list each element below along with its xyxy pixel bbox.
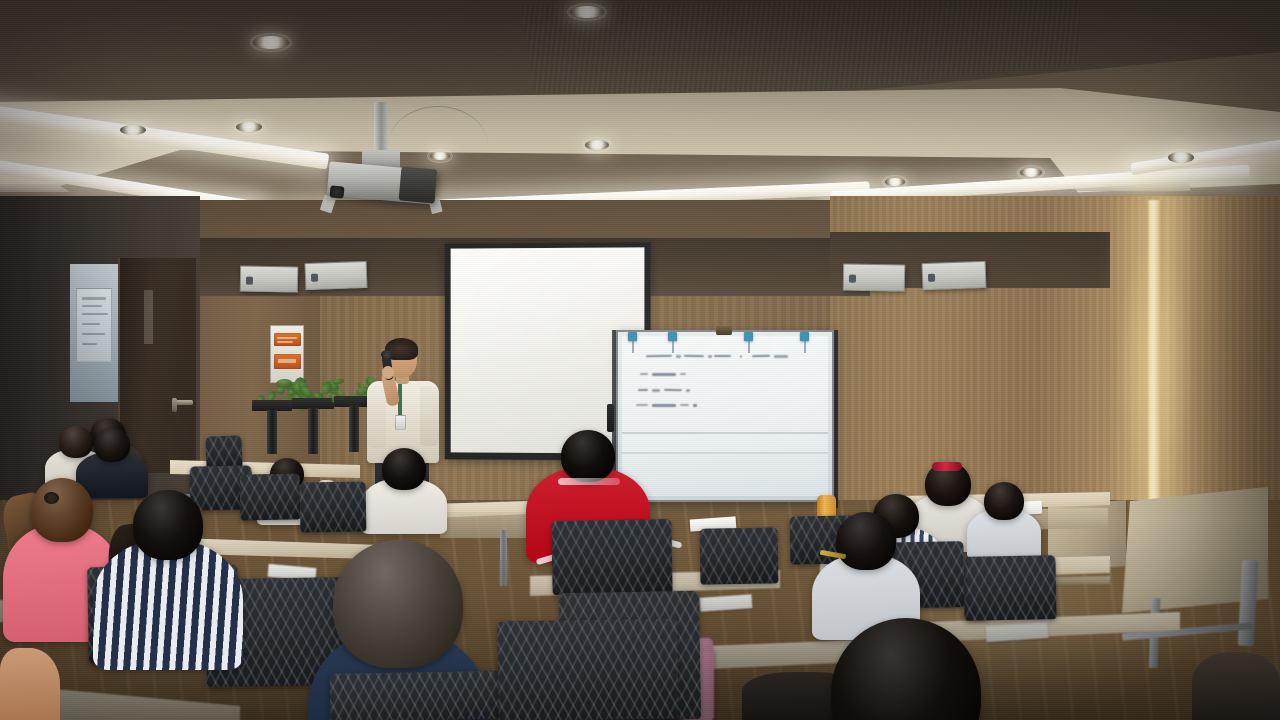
- hair-tie: [44, 492, 59, 504]
- presenter-badge: [395, 415, 406, 430]
- flip-chart-clip[interactable]: [800, 332, 809, 341]
- paper-crease: [622, 452, 828, 454]
- speaker-driver: [246, 277, 253, 285]
- flip-chart-clip[interactable]: [744, 332, 753, 341]
- wall-speaker: [240, 265, 298, 292]
- handwriting-stroke: [680, 404, 689, 406]
- chair-mesh-panel: [551, 519, 672, 595]
- handwriting-stroke: [684, 355, 704, 357]
- handwriting-stroke: [652, 404, 676, 407]
- accent-light-strip: [1146, 200, 1162, 530]
- entry-door[interactable]: [118, 258, 196, 473]
- handwriting-stroke: [774, 355, 788, 358]
- notice-sign: [274, 354, 301, 369]
- flip-chart-clip-stem: [632, 341, 634, 353]
- handwriting-stroke: [686, 389, 690, 392]
- flip-chart-top-clamp: [716, 326, 732, 335]
- presenter-arm-left: [367, 386, 386, 448]
- hair-bow: [932, 462, 962, 471]
- mesh-back-chair[interactable]: [497, 618, 679, 720]
- handwriting-stroke: [652, 373, 676, 376]
- projector-rear: [399, 166, 438, 203]
- flip-chart-paper: [622, 336, 828, 496]
- desk-leg: [500, 530, 507, 586]
- flip-chart-clip-stem: [672, 341, 674, 353]
- downlight: [120, 125, 146, 135]
- handwriting-stroke: [740, 355, 742, 358]
- handwriting-stroke: [664, 389, 682, 391]
- handwriting-stroke: [714, 355, 731, 357]
- attendee-striped-navy-head: [133, 490, 203, 560]
- attendee-foreground-man-head: [333, 540, 463, 668]
- attendee-pink-top-head: [31, 478, 93, 542]
- handwriting-stroke: [676, 355, 681, 358]
- mesh-back-chair[interactable]: [300, 481, 367, 532]
- attendee-child-white-head: [382, 448, 426, 490]
- downlight: [570, 6, 604, 18]
- attendee-arm: [0, 648, 60, 720]
- mesh-back-chair[interactable]: [963, 555, 1056, 621]
- polo-collar: [558, 478, 620, 485]
- downlight: [885, 178, 905, 186]
- door-handle-plate[interactable]: [172, 398, 177, 412]
- attendee-white-blouse-head: [984, 482, 1024, 520]
- wall-speaker: [922, 261, 987, 290]
- notice-sign: [274, 333, 301, 346]
- plant-stand: [267, 410, 277, 454]
- classroom-scene: [0, 0, 1280, 720]
- chair-mesh-panel: [700, 527, 779, 584]
- downlight: [253, 36, 289, 49]
- presenter-arm-right: [420, 386, 439, 446]
- mesh-back-chair[interactable]: [700, 527, 779, 584]
- attendee-white-top-left-head: [59, 426, 93, 458]
- paper-crease: [622, 432, 828, 434]
- flip-chart-clip[interactable]: [668, 332, 677, 341]
- handwriting-stroke: [652, 389, 660, 392]
- projector-mount-pole: [374, 102, 388, 154]
- plant-stand: [349, 406, 359, 452]
- attendee-dark-shirt-head: [94, 428, 130, 462]
- plant-stand: [308, 408, 318, 454]
- handwriting-stroke: [640, 373, 648, 375]
- downlight: [585, 140, 609, 150]
- wall-speaker: [843, 263, 905, 291]
- chair-mesh-panel: [963, 555, 1056, 621]
- wall-notice-board: [270, 325, 304, 383]
- speaker-driver: [849, 275, 856, 283]
- speaker-driver: [311, 274, 318, 282]
- whiteboard-marker[interactable]: [607, 404, 614, 432]
- mesh-back-chair[interactable]: [240, 473, 301, 520]
- mesh-back-chair[interactable]: [551, 519, 672, 595]
- chair-mesh-panel: [497, 618, 679, 720]
- flip-chart-clip-stem: [748, 341, 750, 353]
- chair-mesh-panel: [240, 473, 301, 520]
- attendee-red-polo-head: [561, 430, 615, 482]
- window-notice: [76, 288, 112, 362]
- microphone-head: [381, 350, 393, 359]
- handwriting-stroke: [638, 389, 648, 391]
- flip-chart-clip-stem: [804, 341, 806, 353]
- door-sign: [144, 290, 153, 344]
- downlight: [430, 152, 450, 160]
- handwriting-stroke: [636, 404, 648, 406]
- downlight: [236, 122, 262, 132]
- attendee-silhouette: [1192, 652, 1280, 720]
- attendee-glasses-woman-head: [836, 512, 896, 570]
- handwriting-stroke: [680, 373, 686, 375]
- speaker-driver: [928, 274, 935, 282]
- downlight: [1020, 168, 1042, 177]
- handwriting-stroke: [752, 355, 770, 357]
- wall-speaker: [305, 261, 368, 290]
- downlight: [1168, 152, 1194, 163]
- flip-chart-clip[interactable]: [628, 332, 637, 341]
- presenter-hand: [382, 366, 394, 379]
- handwriting-stroke: [693, 404, 697, 407]
- projector-lens: [330, 185, 345, 198]
- handwriting-stroke: [708, 355, 712, 358]
- door-handle[interactable]: [176, 400, 193, 405]
- chair-mesh-panel: [300, 481, 367, 532]
